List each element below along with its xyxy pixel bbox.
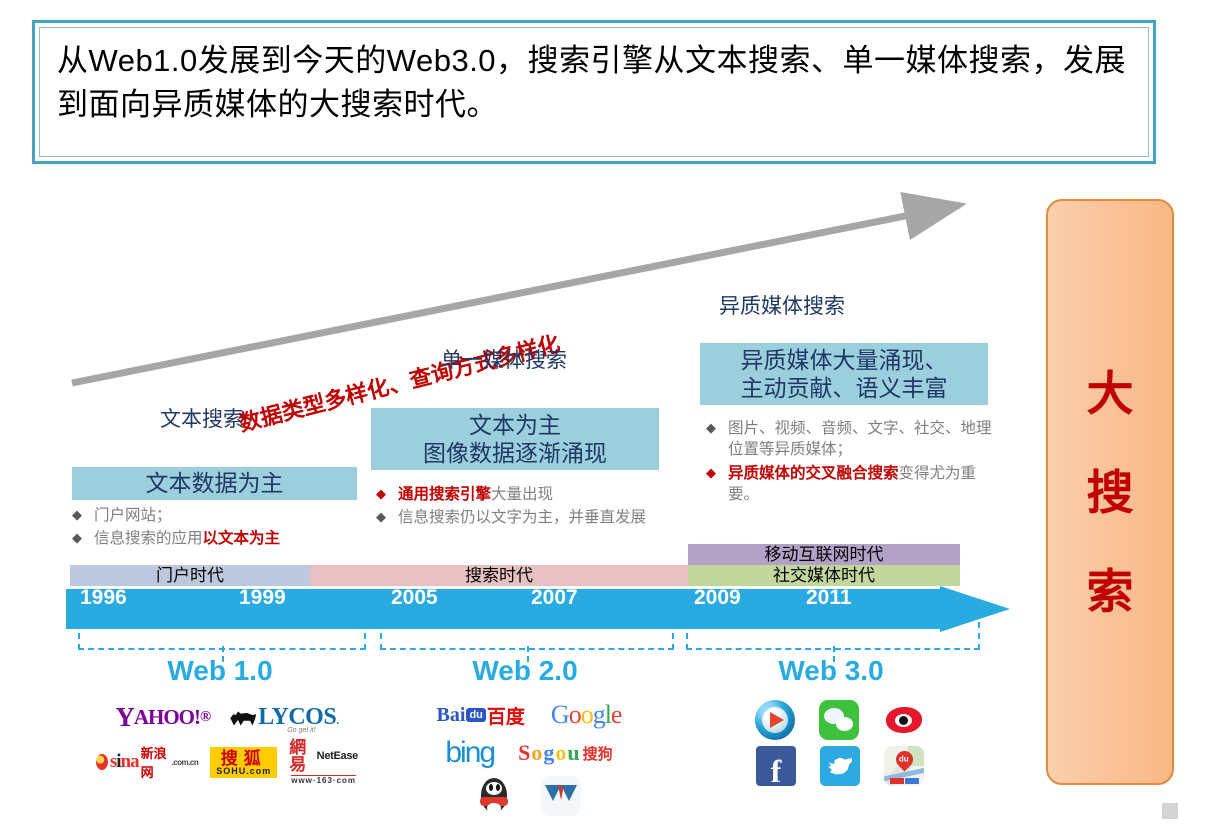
bullet-text: 异质媒体的交叉融合搜索变得尤为重要。	[728, 463, 996, 506]
qq-belly	[487, 803, 501, 813]
bullet-plain: 信息搜索仍以文字为主，并垂直发展	[398, 509, 646, 526]
logo-row-web2-3	[404, 776, 654, 816]
bullet-diamond-icon: ◆	[376, 484, 398, 504]
bullet-plain: 信息搜索的应用	[94, 530, 203, 547]
sogou-letter-o1: o	[531, 740, 542, 766]
sogou-logo-icon: Sogou 搜狗	[518, 740, 613, 766]
media-player-icon	[755, 700, 795, 740]
bullet-list-web3: ◆图片、视频、音频、文字、社交、地理位置等异质媒体；◆异质媒体的交叉融合搜索变得…	[706, 418, 996, 508]
netease-logo-icon: 網易 NetEase www·163·com	[289, 739, 358, 785]
yahoo-logo-icon: YAHOO!®	[115, 702, 210, 733]
big-search-panel: 大 搜 索	[1046, 199, 1174, 785]
xunlei-logo-icon	[541, 776, 581, 816]
bullet-emphasis: 以文本为主	[203, 530, 281, 547]
timeline-year-2005: 2005	[391, 586, 438, 610]
bullet-diamond-icon: ◆	[706, 418, 728, 438]
sogou-letter-o2: o	[555, 740, 566, 766]
qq-eye-right	[496, 784, 500, 791]
bracket-web3	[686, 622, 980, 650]
weibo-icon	[883, 701, 925, 739]
bullet-emphasis: 通用搜索引擎	[398, 486, 491, 503]
phase-box-web3-line-2: 主动贡献、语义丰富	[741, 374, 948, 402]
sohu-domain: SOHU.com	[216, 767, 271, 776]
big-search-char-1: 大	[1087, 370, 1134, 417]
twitter-bird-glyph	[828, 756, 852, 776]
lycos-tagline: Go get it!	[287, 727, 315, 734]
logo-row-web3-1	[722, 700, 958, 740]
bullet-text: 图片、视频、音频、文字、社交、地理位置等异质媒体；	[728, 418, 996, 461]
lycos-dog-icon	[230, 710, 256, 726]
phase-box-web1: 文本数据为主	[72, 467, 357, 500]
sohu-chinese-name: 搜狐	[221, 750, 267, 767]
bullet-diamond-icon: ◆	[72, 505, 94, 525]
logo-row-web1-1: YAHOO!® LYCOS. Go get it!	[96, 702, 358, 733]
bullet-list-web1: ◆门户网站；◆信息搜索的应用以文本为主	[72, 505, 362, 552]
sogou-chinese-name: 搜狗	[583, 743, 613, 764]
google-letter-g2: g	[593, 700, 605, 730]
bullet-list-web2: ◆通用搜索引擎大量出现◆信息搜索仍以文字为主，并垂直发展	[376, 484, 666, 531]
media-player-play-triangle	[770, 712, 784, 728]
big-search-char-3: 索	[1087, 568, 1134, 615]
logo-group-web3: f du	[722, 700, 958, 792]
bullet-diamond-icon: ◆	[706, 463, 728, 483]
timeline-year-1996: 1996	[80, 586, 127, 610]
timeline-year-1999: 1999	[239, 586, 286, 610]
google-letter-e: e	[611, 700, 622, 730]
baidu-du-badge: du	[466, 708, 485, 722]
phase-box-web1-line-1: 文本数据为主	[146, 469, 284, 497]
sogou-letter-u: u	[567, 740, 579, 766]
bullet-diamond-icon: ◆	[376, 507, 398, 527]
bullet-diamond-icon: ◆	[72, 528, 94, 548]
google-letter-g1: G	[551, 700, 569, 730]
netease-wordmark: NetEase	[317, 751, 358, 762]
phase-title-heterogeneous-media-search: 异质媒体搜索	[719, 290, 845, 320]
era-band-search: 搜索时代	[310, 565, 688, 586]
big-search-char-2: 搜	[1087, 469, 1134, 516]
slide-root: 从Web1.0发展到今天的Web3.0，搜索引擎从文本搜索、单一媒体搜索，发展到…	[0, 0, 1210, 836]
slide-corner-marker	[1162, 803, 1178, 819]
sina-wordmark: sina	[110, 751, 139, 773]
bullet-plain: 图片、视频、音频、文字、社交、地理位置等异质媒体；	[728, 420, 992, 458]
bullet-item: ◆信息搜索的应用以文本为主	[72, 528, 362, 549]
baidu-map-icon: du	[884, 746, 924, 786]
netease-top-row: 網易 NetEase	[289, 739, 358, 773]
sogou-letter-s: S	[518, 740, 530, 766]
wechat-bubble-small	[836, 717, 853, 731]
bullet-emphasis: 异质媒体的交叉融合搜索	[728, 465, 899, 482]
bullet-text: 门户网站；	[94, 505, 362, 526]
google-letter-o1: o	[569, 700, 581, 730]
logo-group-web2: Bai du 百度 Google bing Sogou 搜狗	[404, 700, 654, 822]
qq-eye-left	[489, 784, 493, 791]
timeline-year-2009: 2009	[694, 586, 741, 610]
bullet-item: ◆通用搜索引擎大量出现	[376, 484, 666, 505]
xunlei-wing-right	[561, 785, 577, 801]
timeline-year-labels: 199619992005200720092011	[0, 586, 960, 612]
logo-row-web2-2: bing Sogou 搜狗	[404, 736, 654, 770]
netease-chinese-name: 網易	[289, 739, 313, 773]
logo-row-web2-1: Bai du 百度 Google	[404, 700, 654, 730]
sogou-letter-g: g	[543, 740, 554, 766]
weibo-pupil	[895, 714, 912, 727]
phase-box-web3: 异质媒体大量涌现、 主动贡献、语义丰富	[700, 343, 988, 405]
bullet-plain: 大量出现	[491, 486, 553, 503]
qq-penguin-icon	[477, 776, 511, 816]
phase-box-web2-line-2: 图像数据逐渐涌现	[423, 439, 607, 467]
logo-group-web1: YAHOO!® LYCOS. Go get it! sina 新浪网 .com.…	[96, 702, 358, 791]
logo-row-web3-2: f du	[722, 746, 958, 786]
sina-logo-icon: sina 新浪网 .com.cn	[96, 743, 198, 781]
baidu-chinese-name: 百度	[487, 702, 525, 729]
bing-logo-icon: bing	[445, 736, 494, 770]
bullet-text: 信息搜索仍以文字为主，并垂直发展	[398, 507, 666, 528]
wechat-icon	[819, 700, 859, 740]
sohu-logo-icon: 搜狐 SOHU.com	[210, 747, 277, 778]
phase-title-text-search: 文本搜索	[160, 403, 244, 433]
logo-row-web1-2: sina 新浪网 .com.cn 搜狐 SOHU.com 網易 NetEase …	[96, 739, 358, 785]
timeline-year-2011: 2011	[806, 586, 852, 610]
header-text: 从Web1.0发展到今天的Web3.0，搜索引擎从文本搜索、单一媒体搜索，发展到…	[57, 39, 1135, 127]
baidu-bai-text: Bai	[437, 704, 466, 727]
web-label-2-0: Web 2.0	[425, 655, 625, 687]
lycos-logo-icon: LYCOS. Go get it!	[230, 704, 338, 731]
header-callout-box: 从Web1.0发展到今天的Web3.0，搜索引擎从文本搜索、单一媒体搜索，发展到…	[32, 20, 1156, 164]
bracket-web2	[380, 622, 674, 650]
bullet-text: 通用搜索引擎大量出现	[398, 484, 666, 505]
twitter-icon	[820, 746, 860, 786]
baidu-map-red-bar	[890, 778, 904, 784]
bracket-web1	[78, 622, 366, 650]
web-label-1-0: Web 1.0	[120, 655, 320, 687]
phase-box-web2-line-1: 文本为主	[469, 411, 561, 439]
google-logo-icon: Google	[551, 700, 622, 730]
bullet-item: ◆图片、视频、音频、文字、社交、地理位置等异质媒体；	[706, 418, 996, 461]
phase-box-web2: 文本为主 图像数据逐渐涌现	[371, 408, 659, 470]
bullet-item: ◆异质媒体的交叉融合搜索变得尤为重要。	[706, 463, 996, 506]
bullet-item: ◆信息搜索仍以文字为主，并垂直发展	[376, 507, 666, 528]
baidu-logo-icon: Bai du 百度	[437, 702, 525, 729]
netease-domain: www·163·com	[291, 775, 356, 785]
bullet-item: ◆门户网站；	[72, 505, 362, 526]
bullet-plain: 门户网站；	[94, 507, 172, 524]
phase-box-web3-line-1: 异质媒体大量涌现、	[741, 346, 948, 374]
web-label-3-0: Web 3.0	[731, 655, 931, 687]
sina-chinese-name: 新浪网	[141, 743, 170, 781]
google-letter-o2: o	[581, 700, 593, 730]
sina-domain: .com.cn	[172, 758, 199, 767]
baidu-map-blue-bar	[905, 778, 919, 784]
phase-title-single-media-search: 单一媒体搜索	[441, 344, 567, 374]
era-band-portal: 门户时代	[70, 565, 310, 586]
bullet-text: 信息搜索的应用以文本为主	[94, 528, 362, 549]
era-band-social-media: 社交媒体时代	[688, 565, 960, 586]
sina-eye-icon	[96, 754, 108, 770]
facebook-icon: f	[756, 746, 796, 786]
timeline-year-2007: 2007	[531, 586, 578, 610]
era-band-mobile-internet: 移动互联网时代	[688, 544, 960, 565]
